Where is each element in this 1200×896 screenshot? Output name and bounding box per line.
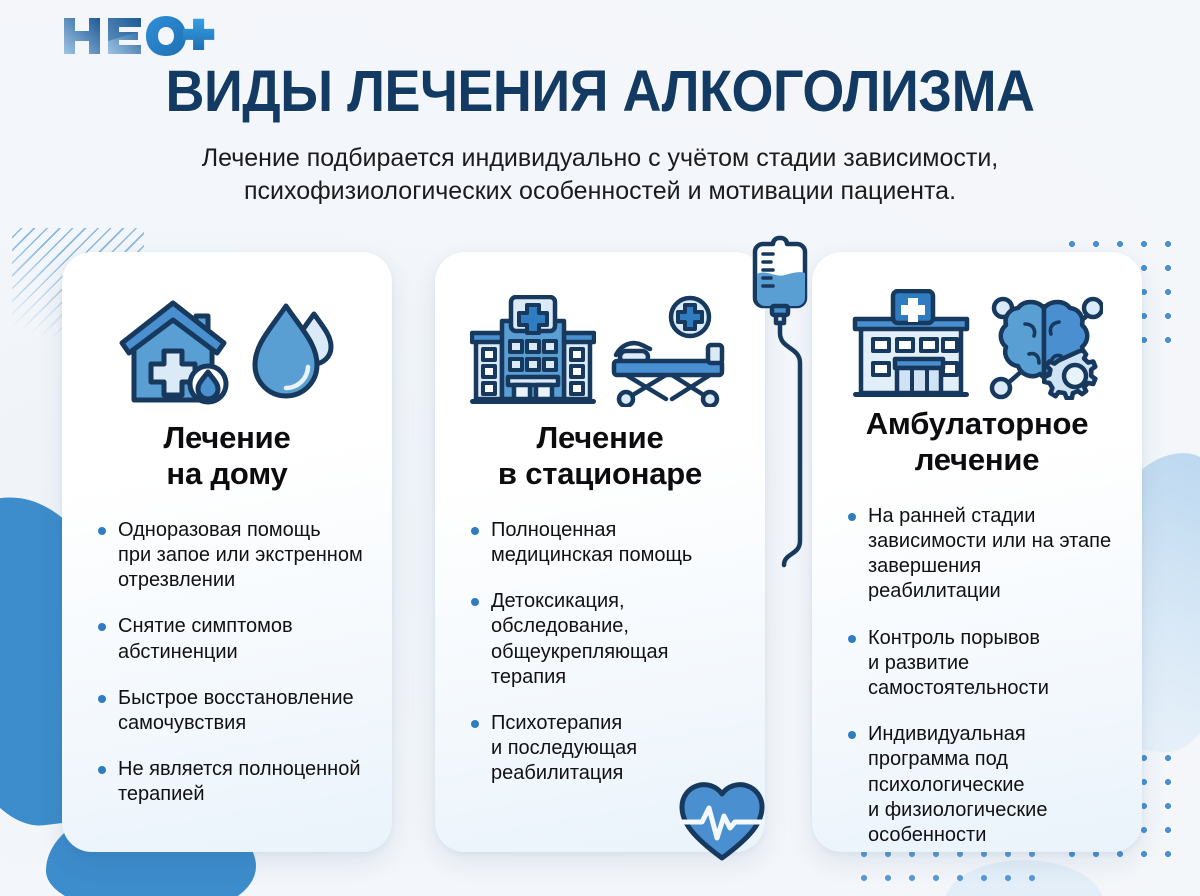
page-subtitle: Лечение подбирается индивидуально с учёт… <box>95 142 1105 208</box>
hospital-building-icon <box>470 295 596 407</box>
card-3-title: Амбулаторное лечение <box>866 406 1089 478</box>
brand-logo <box>62 14 232 58</box>
list-item: Полноценная медицинская помощь <box>469 518 739 568</box>
list-item: На ранней стадии зависимости или на этап… <box>846 504 1116 605</box>
card-outpatient-treatment[interactable]: Амбулаторное лечение На ранней стадии за… <box>812 252 1142 852</box>
iv-drip-icon <box>735 228 831 568</box>
house-medical-droplet-icon <box>118 296 236 406</box>
card-1-bullet-list: Одноразовая помощь при запое или экстрен… <box>88 518 366 829</box>
subtitle-line-2: психофизиологических особенностей и моти… <box>244 177 956 205</box>
list-item: Индивидуальная программа под психологиче… <box>846 722 1116 848</box>
brain-gear-icon <box>985 288 1103 400</box>
list-item: Детоксикация, обследование, общеукрепляю… <box>469 589 739 690</box>
card-1-icon-row <box>88 288 366 414</box>
card-inpatient-treatment[interactable]: Лечение в стационаре Полноценная медицин… <box>435 252 765 852</box>
list-item: Не является полноценной терапией <box>96 757 366 807</box>
clinic-building-icon <box>851 289 971 399</box>
card-home-treatment[interactable]: Лечение на дому Одноразовая помощь при з… <box>62 252 392 852</box>
heart-pulse-icon <box>676 778 768 864</box>
card-3-icon-row <box>838 288 1116 400</box>
card-1-title: Лечение на дому <box>163 420 290 492</box>
card-2-icon-row <box>461 288 739 414</box>
card-3-bullet-list: На ранней стадии зависимости или на этап… <box>838 504 1116 869</box>
list-item: Быстрое восстановление самочувствия <box>96 686 366 736</box>
list-item: Психотерапия и последующая реабилитация <box>469 711 739 787</box>
subtitle-line-1: Лечение подбирается индивидуально с учёт… <box>202 144 999 172</box>
list-item: Одноразовая помощь при запое или экстрен… <box>96 518 366 594</box>
card-2-bullet-list: Полноценная медицинская помощь Детоксика… <box>461 518 739 808</box>
page-title: ВИДЫ ЛЕЧЕНИЯ АЛКОГОЛИЗМА <box>42 62 1158 123</box>
card-2-title: Лечение в стационаре <box>498 420 702 492</box>
water-droplet-icon <box>250 298 336 404</box>
cards-container: Лечение на дому Одноразовая помощь при з… <box>0 252 1200 864</box>
hospital-bed-icon <box>610 295 730 407</box>
list-item: Снятие симптомов абстиненции <box>96 614 366 664</box>
list-item: Контроль порывов и развитие самостоятель… <box>846 626 1116 702</box>
